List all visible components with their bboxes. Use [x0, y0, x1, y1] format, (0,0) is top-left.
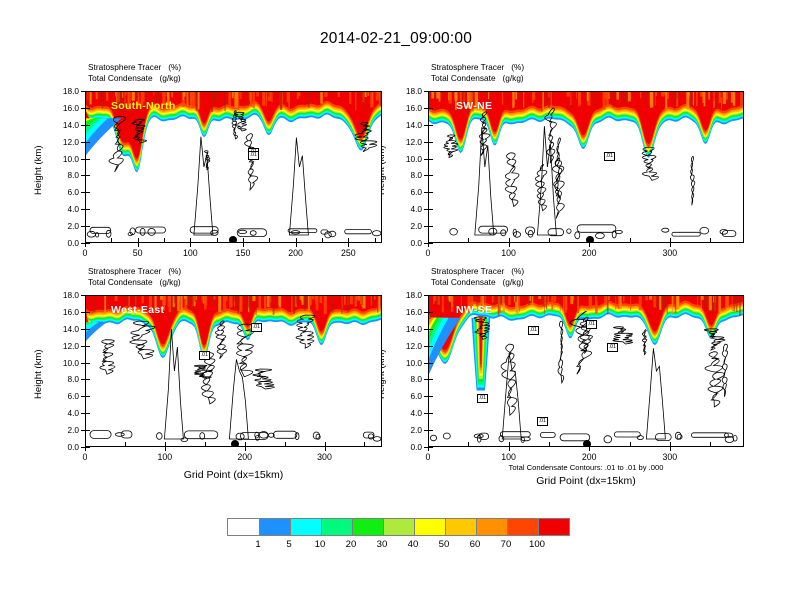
colorbar-segment	[321, 519, 352, 535]
x-tick-minor	[468, 238, 469, 242]
y-tick	[424, 430, 428, 431]
y-tick-inner	[429, 91, 433, 92]
y-tick	[424, 329, 428, 330]
x-tick-minor	[468, 442, 469, 446]
x-tick-minor	[164, 238, 165, 242]
location-marker-west-east	[231, 440, 239, 446]
panel-label-west-east: West-East	[111, 304, 164, 316]
x-tick-minor	[269, 238, 270, 242]
contour-label: .01	[528, 326, 539, 335]
x-tick	[509, 447, 510, 451]
y-tick-inner	[429, 192, 433, 193]
y-tick	[424, 312, 428, 313]
y-tick-label: 4.0	[390, 408, 422, 418]
y-tick-inner	[86, 413, 90, 414]
y-tick-inner	[86, 209, 90, 210]
x-tick-minor	[165, 442, 166, 446]
y-tick-label: 10.0	[390, 358, 422, 368]
colorbar-tick-label: 30	[377, 539, 388, 550]
y-tick-inner	[429, 430, 433, 431]
colorbar-segment	[476, 519, 507, 535]
location-marker-sw-ne	[586, 236, 594, 242]
condensate-contours-sw-ne	[429, 92, 743, 242]
colorbar-segment	[445, 519, 476, 535]
y-tick-inner	[86, 447, 90, 448]
y-tick-inner	[429, 363, 433, 364]
y-tick-inner	[429, 142, 433, 143]
x-tick-minor	[549, 238, 550, 242]
x-tick-minor	[549, 442, 550, 446]
x-axis-label: Grid Point (dx=15km)	[536, 475, 636, 487]
plot-area-south-north: .01.01South-North	[85, 91, 382, 243]
contour-label: .01	[586, 320, 597, 329]
y-tick-label: 2.0	[390, 425, 422, 435]
y-tick-inner	[86, 192, 90, 193]
y-tick-label: 18.0	[390, 290, 422, 300]
y-tick-inner	[86, 396, 90, 397]
x-tick-minor	[428, 442, 429, 446]
y-tick-inner	[429, 175, 433, 176]
plot-area-nw-se: .01.01.01.01.01NW-SE	[428, 295, 744, 447]
x-tick-minor	[85, 238, 86, 242]
y-tick-label: 0.0	[390, 442, 422, 452]
contour-label: .01	[199, 351, 210, 360]
x-tick-minor	[364, 442, 365, 446]
contour-label: .01	[251, 323, 262, 332]
x-tick-minor	[325, 442, 326, 446]
x-tick-minor	[111, 238, 112, 242]
colorbar-segment	[507, 519, 538, 535]
colorbar-strip	[227, 518, 570, 536]
y-tick-inner	[86, 108, 90, 109]
y-tick-inner	[86, 91, 90, 92]
x-tick	[589, 447, 590, 451]
y-tick-inner	[86, 363, 90, 364]
x-tick-minor	[85, 442, 86, 446]
x-tick-minor	[296, 238, 297, 242]
y-tick-inner	[86, 430, 90, 431]
colorbar-tick-label: 60	[470, 539, 481, 550]
y-tick-inner	[429, 209, 433, 210]
colorbar-tick-label: 1	[255, 539, 260, 550]
y-tick-inner	[86, 346, 90, 347]
y-tick-label: 6.0	[390, 391, 422, 401]
colorbar-tick-label: 20	[346, 539, 357, 550]
colorbar-segment	[414, 519, 445, 535]
condensate-contours-nw-se	[429, 296, 743, 446]
x-axis-label: Grid Point (dx=15km)	[184, 469, 284, 481]
colorbar-tick-label: 40	[408, 539, 419, 550]
y-tick-inner	[429, 226, 433, 227]
y-tick-label: 14.0	[390, 324, 422, 334]
plot-inner-west-east: .01.01West-East	[86, 296, 381, 446]
y-tick-inner	[429, 243, 433, 244]
panel-header-nw-se: Stratosphere Tracer (%)Total Condensate …	[431, 266, 524, 287]
x-tick-minor	[243, 238, 244, 242]
y-tick-inner	[429, 346, 433, 347]
figure-canvas: 2014-02-21_09:00:00 Stratosphere Tracer …	[0, 0, 792, 612]
y-tick-inner	[86, 142, 90, 143]
colorbar-segment	[228, 519, 259, 535]
y-tick-inner	[86, 329, 90, 330]
x-tick-minor	[190, 238, 191, 242]
y-tick-inner	[86, 295, 90, 296]
y-tick	[424, 346, 428, 347]
contour-label: .01	[537, 417, 548, 426]
y-tick-label: 12.0	[390, 341, 422, 351]
x-tick-label: 200	[582, 452, 597, 462]
contour-label: .01	[604, 152, 615, 161]
colorbar-tick-label: 10	[315, 539, 326, 550]
y-tick-inner	[429, 329, 433, 330]
colorbar-tick-label: 50	[439, 539, 450, 550]
y-tick-inner	[86, 175, 90, 176]
header-condensate-line: Total Condensate (g/kg)	[431, 277, 524, 288]
y-tick-inner	[86, 312, 90, 313]
x-tick-minor	[375, 238, 376, 242]
colorbar-segment	[383, 519, 414, 535]
colorbar-tick-label: 70	[501, 539, 512, 550]
x-tick-minor	[509, 238, 510, 242]
x-tick-label: 100	[501, 452, 516, 462]
location-marker-south-north	[229, 236, 237, 242]
x-tick-minor	[630, 442, 631, 446]
colorbar-tick-label: 100	[529, 539, 545, 550]
contour-footnote: Total Condensate Contours: .01 to .01 by…	[509, 463, 664, 472]
contour-label: .01	[607, 343, 618, 352]
y-tick-inner	[86, 159, 90, 160]
y-tick	[424, 363, 428, 364]
x-tick-minor	[322, 238, 323, 242]
x-tick-minor	[670, 238, 671, 242]
panel-label-south-north: South-North	[111, 100, 176, 112]
colorbar-tick-label: 5	[286, 539, 291, 550]
y-tick-inner	[429, 396, 433, 397]
plot-inner-sw-ne: .01SW-NE	[429, 92, 743, 242]
location-marker-nw-se	[583, 440, 591, 446]
x-tick-minor	[509, 442, 510, 446]
x-tick-minor	[710, 238, 711, 242]
colorbar-segment	[352, 519, 383, 535]
y-tick-inner	[86, 226, 90, 227]
x-tick-minor	[205, 442, 206, 446]
x-tick-minor	[630, 238, 631, 242]
y-tick-inner	[429, 159, 433, 160]
y-tick	[424, 396, 428, 397]
y-tick-inner	[86, 125, 90, 126]
x-tick-minor	[138, 238, 139, 242]
y-tick-inner	[429, 447, 433, 448]
panel-label-sw-ne: SW-NE	[456, 100, 492, 112]
x-tick-minor	[710, 442, 711, 446]
x-tick-minor	[285, 442, 286, 446]
y-tick	[424, 413, 428, 414]
y-tick-inner	[429, 108, 433, 109]
condensate-contours-west-east	[86, 296, 381, 446]
y-tick-label: 8.0	[390, 374, 422, 384]
x-tick	[670, 447, 671, 451]
x-tick-minor	[428, 238, 429, 242]
x-tick-minor	[217, 238, 218, 242]
y-tick-inner	[429, 312, 433, 313]
y-tick-inner	[429, 295, 433, 296]
y-tick-inner	[429, 125, 433, 126]
y-tick-label: 16.0	[390, 307, 422, 317]
plot-area-sw-ne: .01SW-NE	[428, 91, 744, 243]
x-tick-label: 0	[426, 452, 431, 462]
contour-label: .01	[477, 394, 488, 403]
y-tick-inner	[86, 243, 90, 244]
colorbar-segment	[538, 519, 569, 535]
condensate-contours-south-north	[86, 92, 381, 242]
plot-inner-south-north: .01.01South-North	[86, 92, 381, 242]
x-tick-minor	[348, 238, 349, 242]
colorbar-segment	[259, 519, 290, 535]
panel-label-nw-se: NW-SE	[456, 304, 492, 316]
plot-inner-nw-se: .01.01.01.01.01NW-SE	[429, 296, 743, 446]
y-tick	[424, 379, 428, 380]
y-tick	[424, 295, 428, 296]
x-tick-minor	[125, 442, 126, 446]
plot-area-west-east: .01.01West-East	[85, 295, 382, 447]
y-tick-inner	[429, 379, 433, 380]
header-tracer-line: Stratosphere Tracer (%)	[431, 266, 524, 277]
y-tick-inner	[86, 379, 90, 380]
colorbar-segment	[290, 519, 321, 535]
x-tick-label: 300	[662, 452, 677, 462]
contour-label: .01	[248, 151, 259, 160]
x-tick-minor	[670, 442, 671, 446]
x-tick-minor	[245, 442, 246, 446]
y-tick-inner	[429, 413, 433, 414]
